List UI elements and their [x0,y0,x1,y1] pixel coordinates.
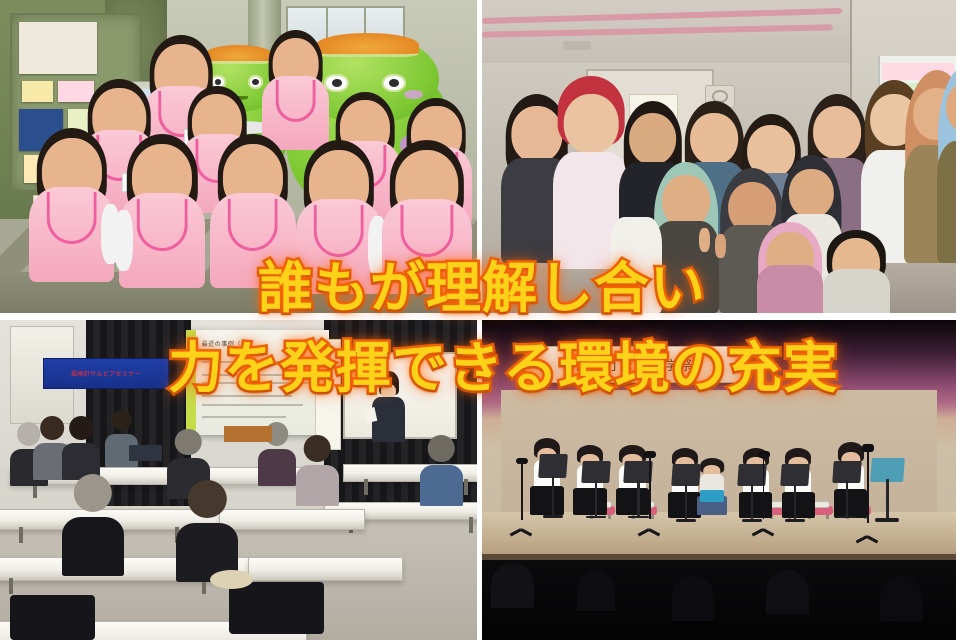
audience-head [766,570,809,615]
audience-head [672,576,715,621]
photo-bottom-right: 福崎町老人大学祭 [482,320,956,640]
audience-head [880,576,923,621]
white-bag [610,207,662,313]
photo-top-right [482,0,956,313]
volunteer [382,150,473,294]
attendee [176,480,238,582]
volunteer [296,150,382,294]
chair [229,582,324,633]
instrument [700,490,724,503]
music-stand [781,464,809,522]
slide-title: 最近の事例（2） [202,339,252,348]
attendee [62,416,100,480]
music-stand [539,454,567,518]
volunteer [210,144,296,288]
vent-icon [563,41,591,50]
attendee [296,435,339,505]
projection-screen: 最近の事例（2） [186,330,329,436]
attendee [62,474,124,576]
volunteer [262,38,329,151]
photo-top-left: 受付 [0,0,477,313]
cabinet [224,426,272,442]
seated-performer [700,458,724,516]
microphone-stand [856,448,880,538]
chair [10,595,96,640]
laptop [129,445,162,461]
person-hijab [757,232,823,313]
presenter [372,371,405,441]
microphone-stand [638,454,662,531]
music-stand [582,461,610,519]
audience-head [491,563,534,608]
audience-head [577,570,615,612]
kappa-dish-icon [316,33,419,57]
volunteer [119,144,205,288]
warning-poster-label: 悪質商 [323,347,332,365]
microphone-stand [510,461,534,531]
volunteer [29,138,115,282]
attendee [420,435,463,505]
hat [210,570,253,589]
festival-banner-label: 福崎町老人大学祭 [575,355,695,374]
warning-poster: 悪質商 [315,339,341,450]
photo-bottom-left: 福崎町サルビアセミナー 最近の事例（2） 悪質商 [0,320,477,640]
photo-collage: 受付 [0,0,960,640]
person [823,238,889,313]
seminar-banner-label: 福崎町サルビアセミナー [71,369,141,378]
microphone-stand [752,454,776,531]
person-hijab [653,175,719,313]
seminar-banner: 福崎町サルビアセミナー [43,358,169,389]
music-stand [672,464,700,522]
person-hijab [937,81,956,263]
festival-banner: 福崎町老人大学祭 [525,346,745,383]
